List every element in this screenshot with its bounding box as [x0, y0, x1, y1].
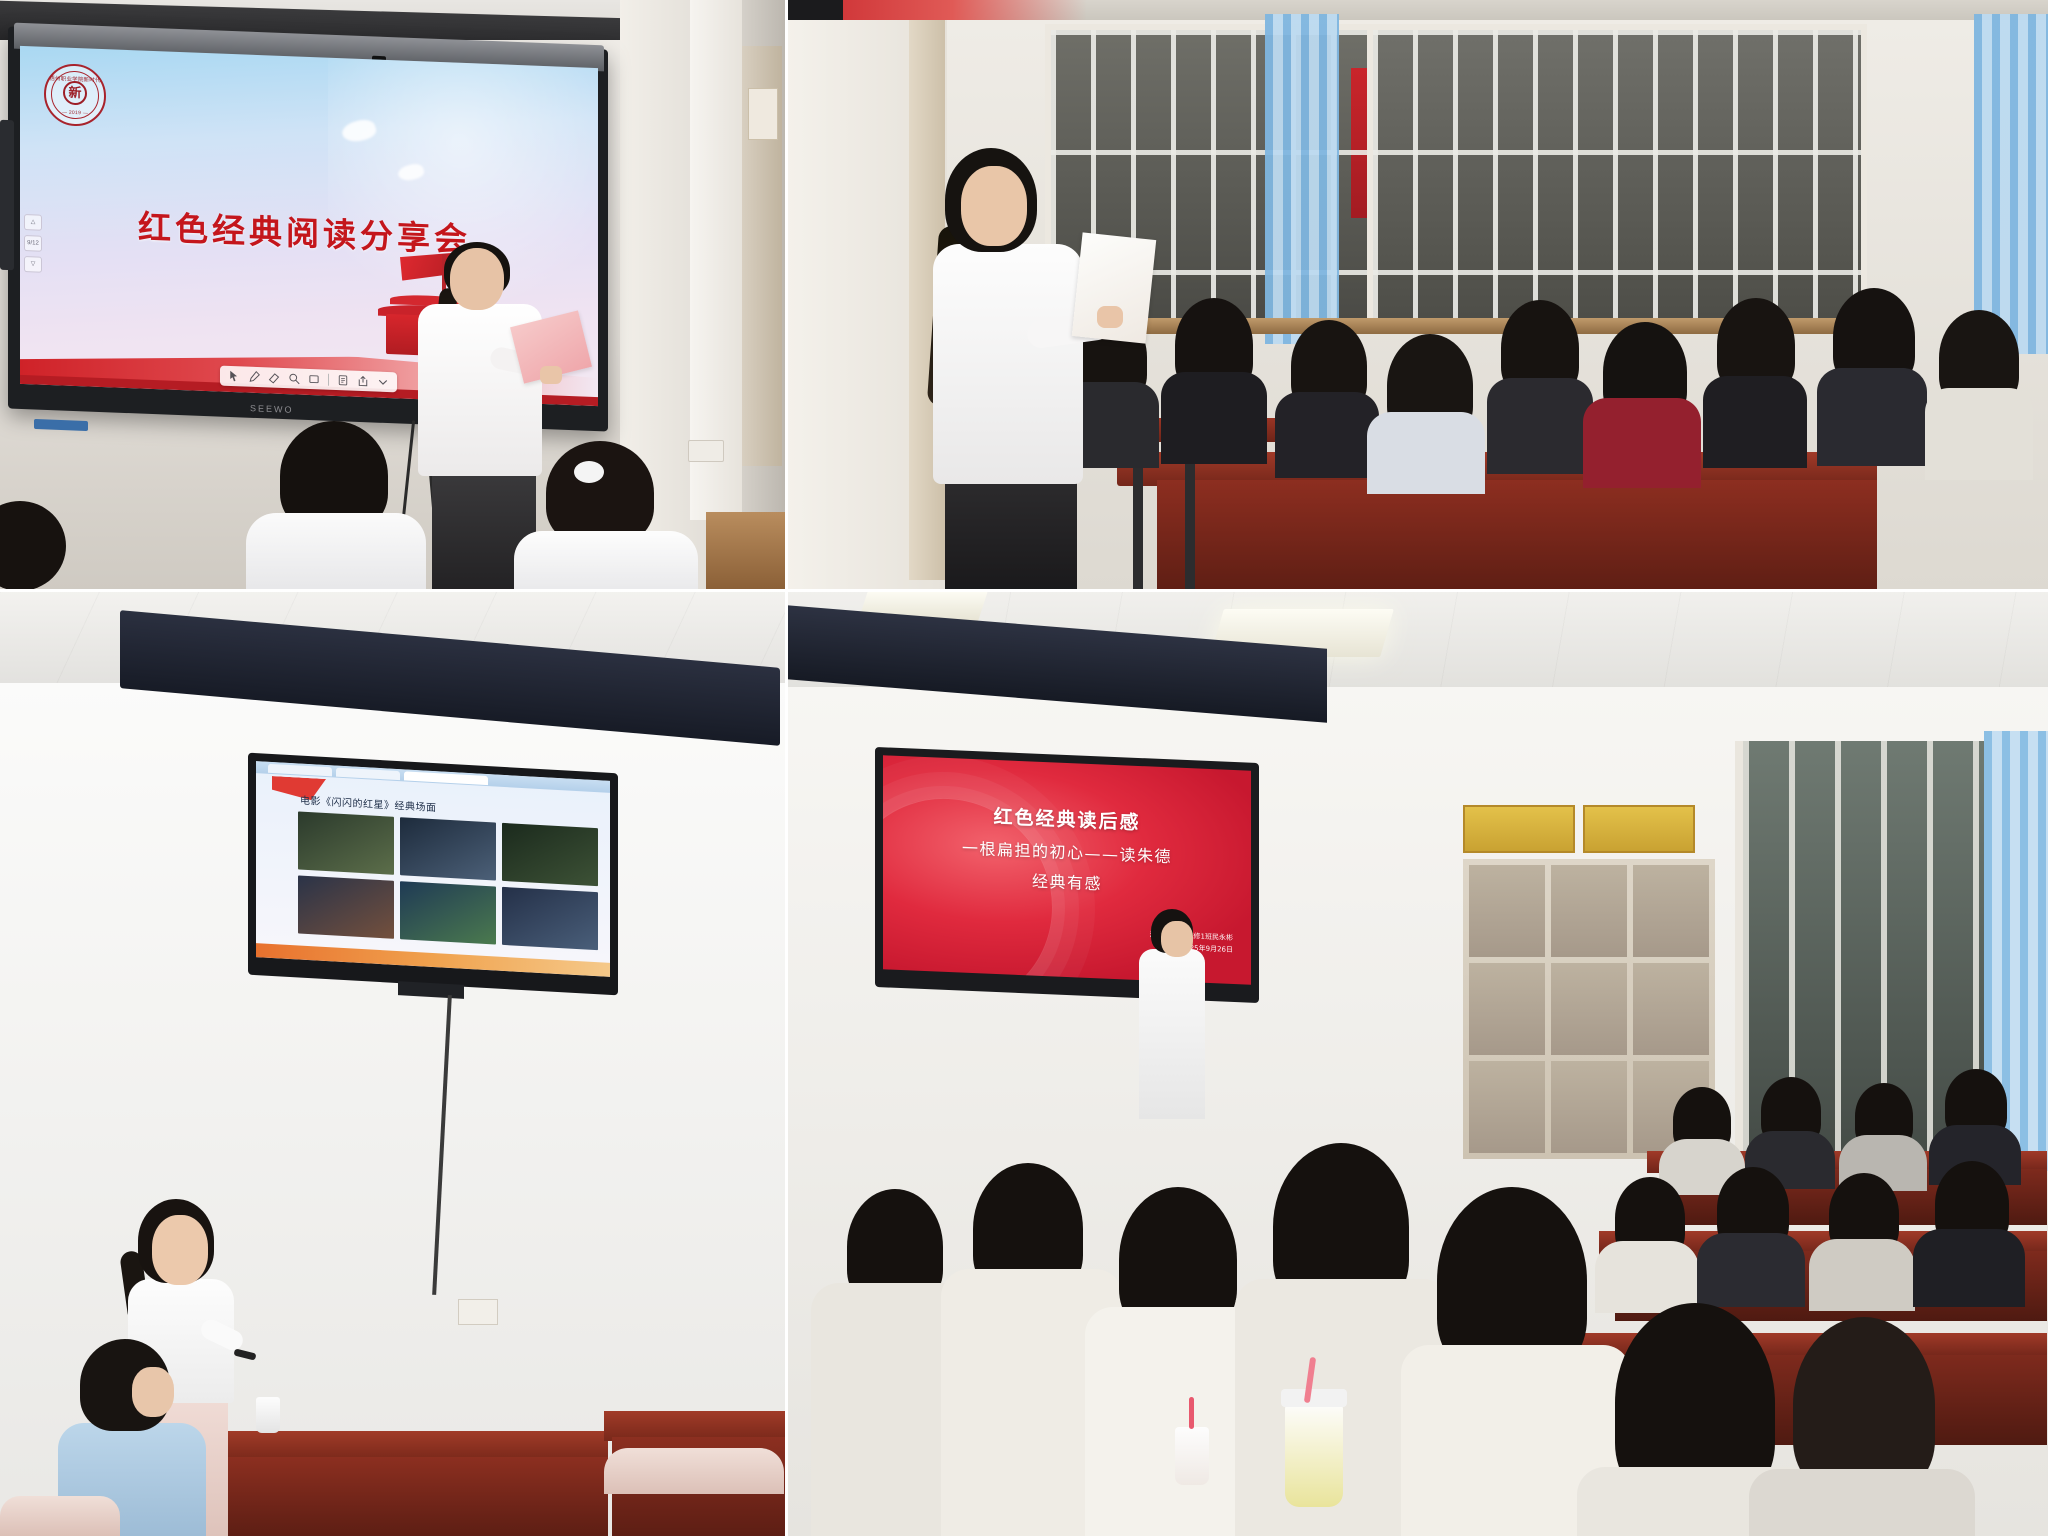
hand — [1097, 306, 1123, 328]
school-seal-logo: 梧州职业学院新时代 新 — 2019 — — [44, 63, 106, 127]
film-scene-thumbnail — [400, 881, 496, 944]
wall-socket — [458, 1299, 498, 1325]
shelf-cell — [1469, 963, 1545, 1055]
whiteboard-left-bezel — [0, 120, 14, 271]
seated-student — [246, 421, 426, 591]
white-shirt — [514, 531, 698, 591]
audience-student-body — [1913, 1229, 2025, 1307]
page-down-icon[interactable]: ▽ — [24, 256, 42, 273]
head — [152, 1215, 208, 1285]
cursor-icon[interactable] — [228, 370, 240, 382]
page-up-icon[interactable]: △ — [24, 214, 42, 231]
shelf-cell — [1551, 963, 1627, 1055]
face — [132, 1367, 174, 1417]
film-scene-thumbnail — [502, 823, 598, 886]
presenter-student — [927, 148, 1127, 591]
audience-student-body — [1275, 392, 1379, 478]
film-scene-thumbnail — [400, 817, 496, 880]
bubble-tea-cup — [1285, 1403, 1343, 1507]
desk-front-panel — [1157, 480, 1877, 591]
seal-year: — 2019 — — [46, 109, 104, 117]
window-bars-horizontal — [1373, 30, 1861, 318]
rectangle-icon[interactable] — [308, 373, 320, 385]
pen-icon[interactable] — [248, 371, 260, 383]
chevron-down-icon[interactable] — [377, 376, 389, 388]
shelf-cell — [1633, 865, 1709, 957]
audience-student-body — [1583, 398, 1701, 488]
audience-student-body — [1817, 368, 1927, 466]
photo-collage: 梧州职业学院新时代 新 — 2019 — 红色经典阅读分享会 △ 9/12 ▽ — [0, 0, 2048, 1536]
whiteboard-side-controls[interactable]: △ 9/12 ▽ — [24, 214, 42, 278]
toolbar-divider — [328, 374, 329, 386]
audience-student-body — [1487, 378, 1593, 474]
audience-student-body — [1925, 388, 2033, 480]
bookshelf-cells — [1469, 865, 1709, 1153]
standing-speaker — [1139, 909, 1205, 1119]
photo-panel-top-left[interactable]: 梧州职业学院新时代 新 — 2019 — 红色经典阅读分享会 △ 9/12 ▽ — [0, 0, 787, 591]
film-scene-thumbnail — [298, 811, 394, 874]
desk-front-panel — [196, 1457, 608, 1536]
shelf-cell — [1633, 963, 1709, 1055]
eraser-icon[interactable] — [268, 371, 280, 383]
paper-cup — [256, 1397, 280, 1433]
page-indicator: 9/12 — [24, 235, 42, 252]
shelf-cell — [1469, 865, 1545, 957]
shelf-cell — [1469, 1061, 1545, 1153]
head — [961, 166, 1027, 246]
browser-tab-active[interactable] — [404, 771, 488, 785]
skirt — [945, 474, 1077, 591]
audience-student-body — [1161, 372, 1267, 464]
audience-student-body — [1703, 376, 1807, 468]
film-scene-thumbnail — [502, 887, 598, 950]
student-arm — [0, 1496, 120, 1536]
wooden-cabinet — [706, 512, 787, 591]
seated-student — [0, 501, 66, 591]
list-icon[interactable] — [337, 374, 349, 386]
browser-tab[interactable] — [336, 768, 400, 781]
shelf-cell — [1551, 1061, 1627, 1153]
chair-leg — [1185, 452, 1195, 591]
seated-student — [520, 441, 692, 591]
audience-student-body — [1367, 412, 1485, 494]
hair — [0, 501, 66, 591]
display-screen[interactable]: 电影《闪闪的红星》经典场面 — [256, 761, 610, 977]
collage-divider-horizontal — [0, 589, 2048, 592]
honor-plaque — [1583, 805, 1695, 853]
browser-tab[interactable] — [268, 764, 332, 777]
photo-panel-bottom-right[interactable]: 红色经典读后感 一根扁担的初心——读朱德 经典有感 汇报人：25汽修1班民永彬 … — [787, 591, 2048, 1536]
film-scene-grid — [298, 811, 598, 950]
magnifier-icon[interactable] — [288, 372, 300, 384]
whiteboard-brand-label: SEEWO — [250, 403, 294, 415]
audience-student-body — [1749, 1469, 1975, 1536]
whiteboard-io-plate — [34, 419, 88, 431]
blue-curtain — [1974, 14, 2048, 354]
shelf-cell — [1551, 865, 1627, 957]
hair — [546, 441, 654, 545]
audience-student-body — [1595, 1241, 1699, 1313]
face — [1161, 921, 1193, 957]
head — [450, 248, 504, 310]
honor-plaque — [1463, 805, 1575, 853]
film-scene-thumbnail — [298, 875, 394, 938]
collage-divider-vertical — [785, 0, 788, 1536]
slide-title: 电影《闪闪的红星》经典场面 — [300, 792, 437, 815]
wall-socket — [688, 440, 724, 462]
audience-student-body — [1809, 1239, 1915, 1311]
blue-curtain — [1265, 14, 1339, 344]
audience-student-body — [1697, 1233, 1805, 1307]
white-shirt — [246, 513, 426, 591]
door-sign — [748, 88, 778, 140]
small-drink-cup — [1175, 1427, 1209, 1485]
share-icon[interactable] — [357, 375, 369, 387]
student-arm — [604, 1448, 784, 1494]
white-shirt — [1139, 949, 1205, 1119]
hair-bow — [574, 461, 604, 483]
straw — [1189, 1397, 1194, 1429]
photo-panel-bottom-left[interactable]: 电影《闪闪的红星》经典场面 — [0, 591, 787, 1536]
audience-student-hair — [1793, 1317, 1935, 1493]
chair-leg — [1133, 452, 1143, 591]
photo-panel-top-right[interactable] — [787, 0, 2048, 591]
window-right — [1367, 24, 1867, 324]
seal-center-char: 新 — [63, 80, 87, 105]
white-shirt — [933, 244, 1083, 484]
hand — [540, 366, 562, 384]
